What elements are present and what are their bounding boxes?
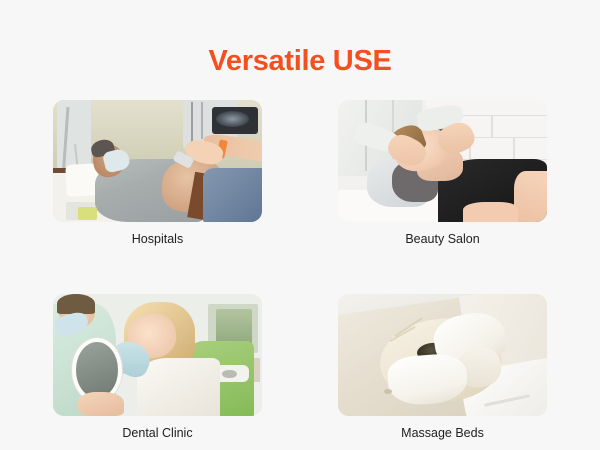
massage-bed-scene xyxy=(338,294,547,416)
assistant-hair xyxy=(57,294,95,314)
use-case-label: Massage Beds xyxy=(338,425,547,441)
use-case-card-dental-clinic[interactable]: Dental Clinic xyxy=(53,294,262,441)
machine-cord xyxy=(191,102,193,143)
use-case-card-hospitals[interactable]: Hospitals xyxy=(53,100,262,247)
patient-hand xyxy=(78,392,124,416)
patient-jeans xyxy=(203,168,262,222)
use-case-card-massage-beds[interactable]: Massage Beds xyxy=(338,294,547,441)
use-case-grid: Hospitals xyxy=(53,100,547,442)
page-title: Versatile USE xyxy=(0,47,600,76)
hospitals-image[interactable] xyxy=(53,100,262,222)
dental-clinic-image[interactable] xyxy=(53,294,262,416)
hospital-ultrasound-scene xyxy=(53,100,262,222)
monitor-image-glow xyxy=(216,111,249,127)
versatile-use-panel: Versatile USE xyxy=(0,0,600,450)
machine-cord-secondary xyxy=(201,102,203,139)
use-case-card-beauty-salon[interactable]: Beauty Salon xyxy=(338,100,547,247)
use-case-label: Hospitals xyxy=(53,231,262,247)
client-arm xyxy=(463,202,517,222)
massage-beds-image[interactable] xyxy=(338,294,547,416)
use-case-label: Beauty Salon xyxy=(338,231,547,247)
dental-clinic-scene xyxy=(53,294,262,416)
use-case-label: Dental Clinic xyxy=(53,425,262,441)
beauty-salon-image[interactable] xyxy=(338,100,547,222)
beauty-salon-scene xyxy=(338,100,547,222)
client-shoulder xyxy=(514,171,547,222)
patient-gown xyxy=(137,358,221,417)
bedside-equipment-panel xyxy=(78,207,97,219)
